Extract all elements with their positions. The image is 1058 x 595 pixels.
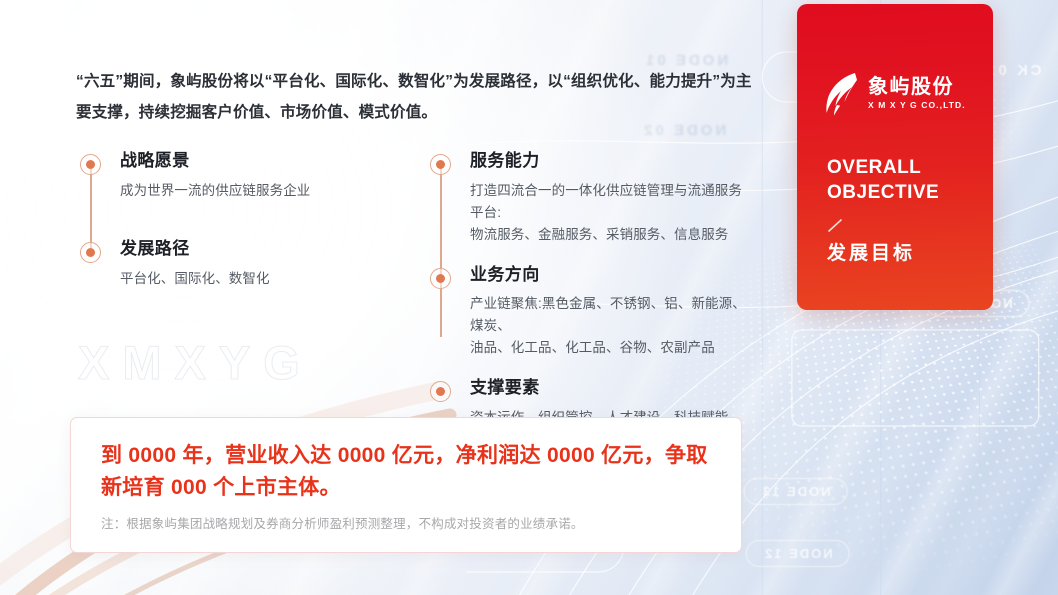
objective-title: 服务能力 bbox=[470, 150, 752, 173]
logo-wordmark: 象屿股份 X M X Y G CO.,LTD. bbox=[868, 72, 966, 110]
panel-title-en: OVERALL OBJECTIVE bbox=[827, 156, 939, 205]
objective-title: 发展路径 bbox=[120, 238, 402, 261]
logo-name-en: X M X Y G CO.,LTD. bbox=[868, 101, 966, 110]
objectives-column-left: 战略愿景 成为世界一流的供应链服务企业 发展路径 平台化、国际化、数智化 bbox=[76, 150, 402, 429]
timeline-marker-icon bbox=[430, 268, 451, 289]
timeline-marker-icon bbox=[430, 154, 451, 175]
objective-title: 业务方向 bbox=[470, 264, 752, 287]
objective-desc: 成为世界一流的供应链服务企业 bbox=[120, 180, 402, 202]
objective-item: 业务方向 产业链聚焦:黑色金属、不锈钢、铝、新能源、煤炭、 油品、化工品、化工品… bbox=[426, 264, 752, 360]
background-node-label: CK 01 bbox=[984, 62, 1042, 79]
objective-title: 支撑要素 bbox=[470, 377, 752, 400]
objective-desc: 打造四流合一的一体化供应链管理与流通服务平台: 物流服务、金融服务、采销服务、信… bbox=[470, 180, 752, 246]
highlight-statement: 到 0000 年，营业收入达 0000 亿元，净利润达 0000 亿元，争取新培… bbox=[101, 440, 711, 504]
slash-divider-icon bbox=[828, 219, 843, 232]
timeline-marker-icon bbox=[80, 154, 101, 175]
slide-root: CK 01 NODE 08 NODE NODE 13 NODE 12 NODE … bbox=[0, 0, 1058, 595]
objective-item: 服务能力 打造四流合一的一体化供应链管理与流通服务平台: 物流服务、金融服务、采… bbox=[426, 150, 752, 246]
panel-title-cn: 发展目标 bbox=[827, 238, 915, 265]
objective-item: 发展路径 平台化、国际化、数智化 bbox=[76, 238, 402, 290]
flame-sail-logo-icon bbox=[825, 72, 859, 116]
logo-name-cn: 象屿股份 bbox=[868, 76, 966, 96]
highlight-footnote: 注：根据象屿集团战略规划及券商分析师盈利预测整理，不构成对投资者的业绩承诺。 bbox=[101, 515, 711, 534]
objectives-columns: 战略愿景 成为世界一流的供应链服务企业 发展路径 平台化、国际化、数智化 服务能… bbox=[76, 150, 776, 429]
timeline-marker-icon bbox=[80, 242, 101, 263]
objective-title: 战略愿景 bbox=[120, 150, 402, 173]
objective-panel: 象屿股份 X M X Y G CO.,LTD. OVERALL OBJECTIV… bbox=[797, 4, 993, 310]
company-logo: 象屿股份 X M X Y G CO.,LTD. bbox=[825, 72, 966, 116]
timeline-marker-icon bbox=[430, 381, 451, 402]
objective-desc: 产业链聚焦:黑色金属、不锈钢、铝、新能源、煤炭、 油品、化工品、化工品、谷物、农… bbox=[470, 293, 752, 359]
highlight-card: 到 0000 年，营业收入达 0000 亿元，净利润达 0000 亿元，争取新培… bbox=[70, 417, 742, 553]
intro-paragraph: “六五”期间，象屿股份将以“平台化、国际化、数智化”为发展路径，以“组织优化、能… bbox=[76, 66, 766, 128]
objective-desc: 平台化、国际化、数智化 bbox=[120, 268, 402, 290]
background-node-label: NODE 12 bbox=[746, 540, 850, 567]
objective-item: 战略愿景 成为世界一流的供应链服务企业 bbox=[76, 150, 402, 202]
objectives-column-right: 服务能力 打造四流合一的一体化供应链管理与流通服务平台: 物流服务、金融服务、采… bbox=[426, 150, 752, 429]
